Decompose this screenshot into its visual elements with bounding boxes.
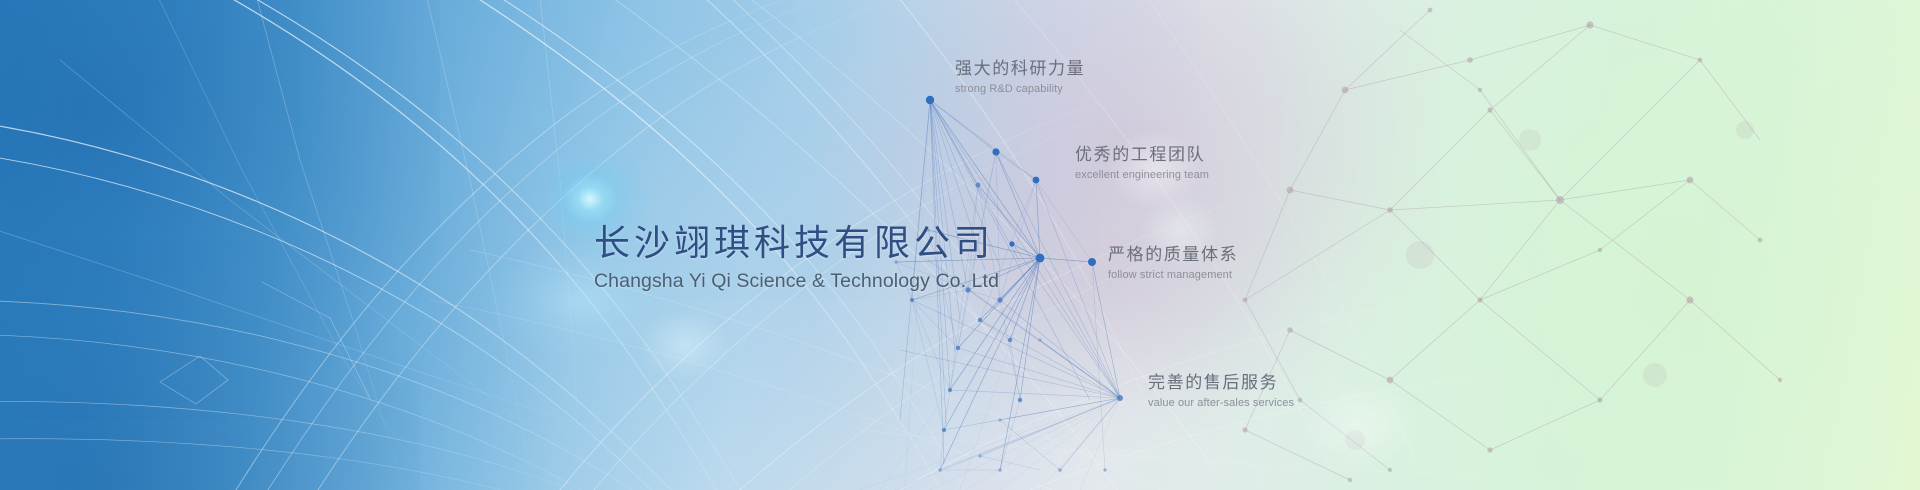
company-name-chinese: 长沙翊琪科技有限公司 — [594, 222, 1114, 264]
feature-label-en: follow strict management — [1108, 269, 1238, 281]
company-banner: 长沙翊琪科技有限公司 Changsha Yi Qi Science & Tech… — [0, 0, 1920, 490]
feature-item-quality: 严格的质量体系 follow strict management — [1108, 240, 1238, 281]
violet-tint — [820, 0, 1440, 400]
blue-corner-tint — [0, 0, 440, 420]
feature-item-rd: 强大的科研力量 strong R&D capability — [955, 54, 1085, 95]
soft-glow-c — [1300, 380, 1420, 470]
company-name-block: 长沙翊琪科技有限公司 Changsha Yi Qi Science & Tech… — [594, 222, 1114, 293]
company-name-english: Changsha Yi Qi Science & Technology Co. … — [594, 270, 1114, 293]
feature-label-cn: 严格的质量体系 — [1108, 240, 1238, 265]
feature-label-en: strong R&D capability — [955, 83, 1085, 95]
feature-label-cn: 完善的售后服务 — [1148, 368, 1294, 393]
feature-item-service: 完善的售后服务 value our after-sales services — [1148, 368, 1294, 409]
blue-corner-tint-lower — [0, 240, 420, 490]
soft-glow-d — [640, 310, 730, 380]
feature-item-team: 优秀的工程团队 excellent engineering team — [1075, 140, 1209, 181]
green-right-tint — [1280, 0, 1920, 490]
feature-label-en: value our after-sales services — [1148, 397, 1294, 409]
feature-label-cn: 优秀的工程团队 — [1075, 140, 1209, 165]
feature-label-en: excellent engineering team — [1075, 169, 1209, 181]
feature-label-cn: 强大的科研力量 — [955, 54, 1085, 79]
